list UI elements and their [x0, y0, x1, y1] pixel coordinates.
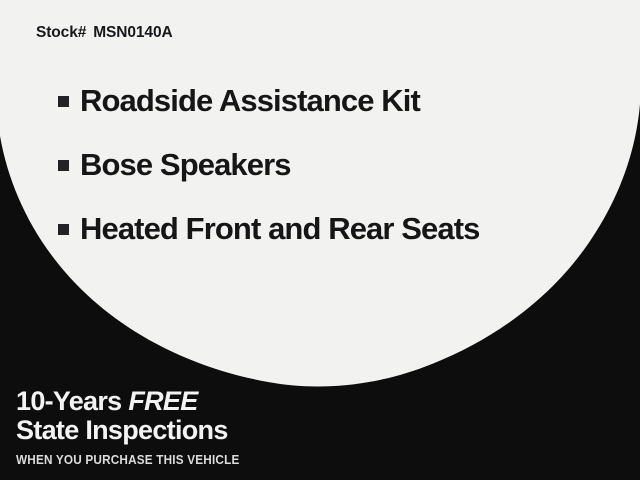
- stock-number: Stock# MSN0140A: [36, 24, 173, 42]
- square-bullet-icon: [58, 160, 69, 171]
- promo-block: 10-Years FREE State Inspections WHEN YOU…: [16, 387, 436, 466]
- promo-headline-primary: 10-Years FREE: [16, 387, 436, 415]
- feature-list: Roadside Assistance Kit Bose Speakers He…: [58, 68, 618, 260]
- stock-label: Stock#: [36, 24, 86, 42]
- stock-value: MSN0140A: [93, 24, 172, 42]
- list-item: Bose Speakers: [58, 132, 618, 196]
- feature-label: Heated Front and Rear Seats: [80, 213, 479, 244]
- promo-years-text: 10-Years: [16, 386, 122, 416]
- vehicle-feature-card: Stock# MSN0140A Roadside Assistance Kit …: [0, 0, 640, 480]
- feature-label: Roadside Assistance Kit: [80, 85, 420, 116]
- promo-subtext: WHEN YOU PURCHASE THIS VEHICLE: [16, 454, 411, 467]
- square-bullet-icon: [58, 96, 69, 107]
- promo-headline-secondary: State Inspections: [16, 416, 436, 445]
- feature-label: Bose Speakers: [80, 149, 291, 180]
- promo-free-text: FREE: [128, 386, 197, 416]
- square-bullet-icon: [58, 224, 69, 235]
- list-item: Roadside Assistance Kit: [58, 68, 618, 132]
- list-item: Heated Front and Rear Seats: [58, 196, 618, 260]
